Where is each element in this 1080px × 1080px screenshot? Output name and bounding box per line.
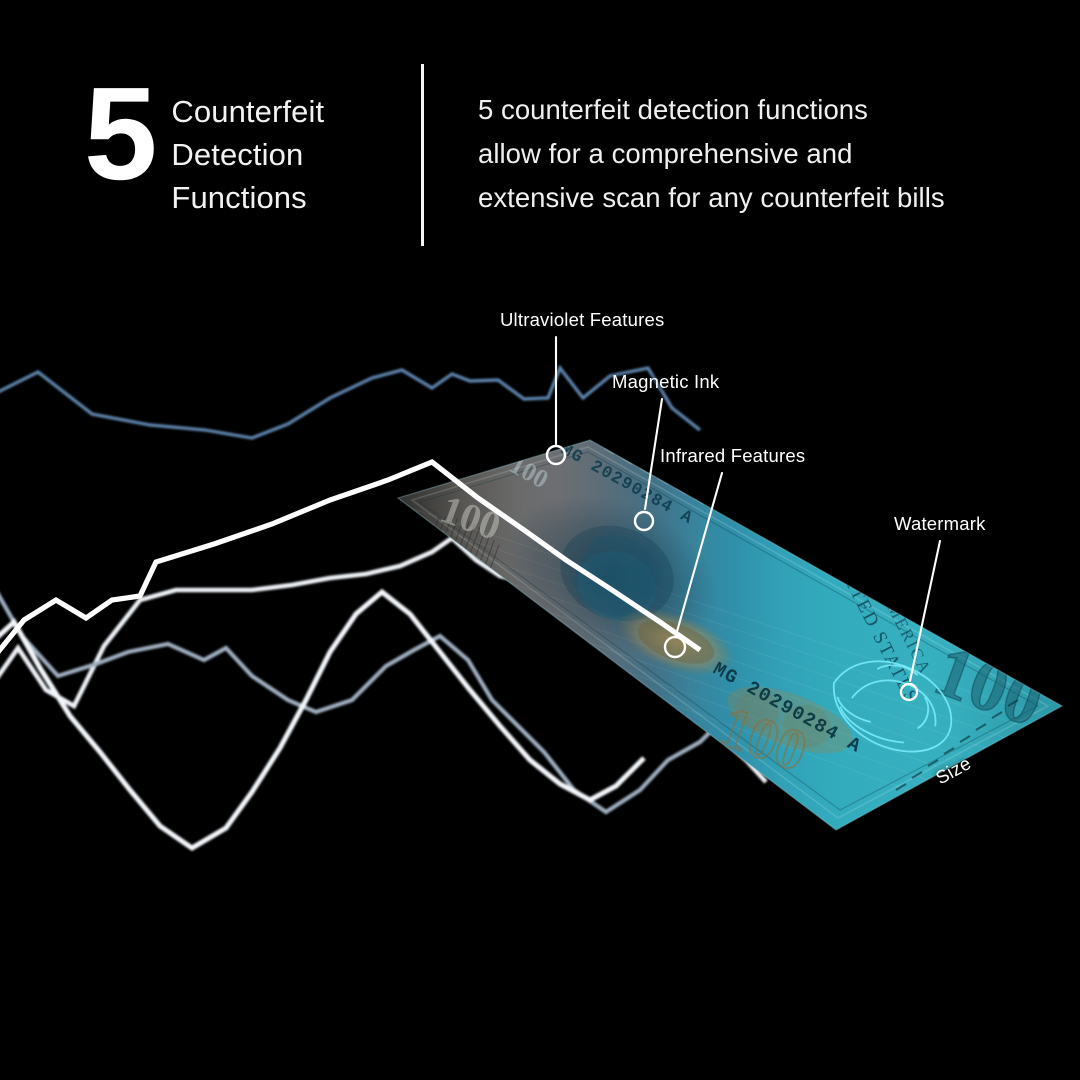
header-block: 5 Counterfeit Detection Functions 5 coun… xyxy=(0,0,1080,270)
vertical-divider xyxy=(421,64,424,246)
leader-line-watermark xyxy=(910,541,940,681)
infographic-canvas: 100 100 100 100 MG 20290284 A MG 2029028… xyxy=(0,0,1080,1080)
headline-line-3: Functions xyxy=(171,176,324,219)
marker-watermark[interactable] xyxy=(901,684,917,700)
callout-label-watermark: Watermark xyxy=(894,513,986,535)
leader-line-infrared xyxy=(676,473,722,635)
headline-line-2: Detection xyxy=(171,133,324,176)
headline-number: 5 xyxy=(84,82,153,186)
callout-label-infrared: Infrared Features xyxy=(660,445,805,467)
body-line-3: extensive scan for any counterfeit bills xyxy=(478,176,1038,220)
headline-words: Counterfeit Detection Functions xyxy=(171,78,324,219)
marker-ultraviolet[interactable] xyxy=(547,446,565,464)
headline-line-1: Counterfeit xyxy=(171,90,324,133)
body-copy: 5 counterfeit detection functions allow … xyxy=(478,88,1038,220)
headline-group: 5 Counterfeit Detection Functions xyxy=(84,78,324,219)
body-line-1: 5 counterfeit detection functions xyxy=(478,88,1038,132)
callout-label-ultraviolet: Ultraviolet Features xyxy=(500,309,664,331)
marker-magnetic[interactable] xyxy=(635,512,653,530)
callout-label-magnetic-ink: Magnetic Ink xyxy=(612,371,719,393)
body-line-2: allow for a comprehensive and xyxy=(478,132,1038,176)
marker-infrared[interactable] xyxy=(665,637,685,657)
